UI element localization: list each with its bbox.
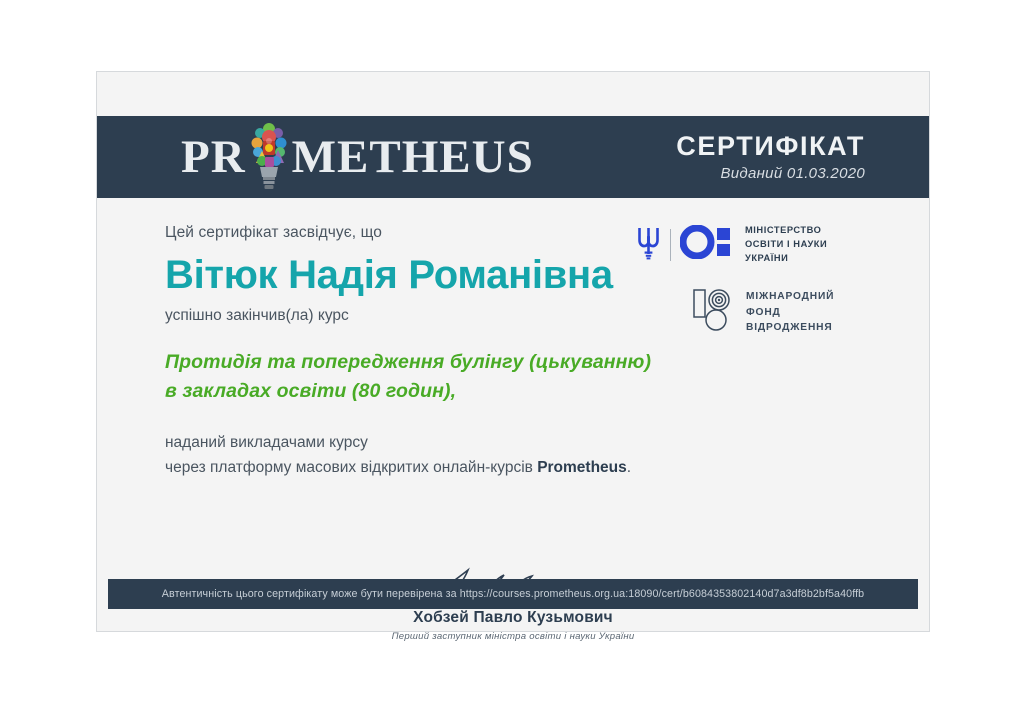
partner-logos: МІНІСТЕРСТВО ОСВІТИ І НАУКИ УКРАЇНИ [636,224,881,337]
granted-line-1: наданий викладачами курсу [165,430,705,455]
ministry-text-line-3: УКРАЇНИ [745,252,827,266]
renaissance-foundation-icon [692,288,736,337]
renaissance-foundation-logo: МІЖНАРОДНИЙ ФОНД ВІДРОДЖЕННЯ [692,288,881,337]
foundation-text-line-1: МІЖНАРОДНИЙ [746,289,834,305]
certificate-header-right: СЕРТИФІКАТ Виданий 01.03.2020 [676,132,865,183]
foundation-text-line-3: ВІДРОДЖЕННЯ [746,320,834,336]
signatory-name: Хобзей Павло Кузьмович [97,609,929,627]
granted-line-2: через платформу масових відкритих онлайн… [165,455,705,480]
brand-prefix: PR [181,134,246,181]
ministry-of-education-logo: МІНІСТЕРСТВО ОСВІТИ І НАУКИ УКРАЇНИ [636,224,881,266]
certificate-body: Цей сертифікат засвідчує, що Вітюк Надія… [97,198,929,631]
certificate-card: PR [96,71,930,632]
student-name: Вітюк Надія Романівна [165,254,705,296]
signatory-title: Перший заступник міністра освіти і науки… [97,631,929,642]
certificate-statement: Цей сертифікат засвідчує, що Вітюк Надія… [165,224,705,480]
ukraine-trident-icon [636,225,661,265]
ministry-text-line-1: МІНІСТЕРСТВО [745,224,827,238]
lightbulb-icon [247,119,291,195]
certificate-header: PR [97,116,929,198]
foundation-logo-text: МІЖНАРОДНИЙ ФОНД ВІДРОДЖЕННЯ [746,289,834,336]
prometheus-logo: PR [181,116,534,198]
ministry-text-line-2: ОСВІТИ І НАУКИ [745,238,827,252]
logo-divider [670,229,671,261]
brand-suffix: METHEUS [292,134,534,181]
course-title-line-1: Протидія та попередження булінгу (цькува… [165,348,705,377]
completion-line: успішно закінчив(ла) курс [165,307,705,325]
course-title: Протидія та попередження булінгу (цькува… [165,348,705,406]
certificate-issue-date: Виданий 01.03.2020 [676,165,865,182]
brand-wordmark: PR [181,119,534,195]
foundation-text-line-2: ФОНД [746,305,834,321]
certificate-title: СЕРТИФІКАТ [676,132,865,162]
granted-line-2-prefix: через платформу масових відкритих онлайн… [165,459,537,476]
ministry-logo-text: МІНІСТЕРСТВО ОСВІТИ І НАУКИ УКРАЇНИ [745,224,827,266]
intro-line: Цей сертифікат засвідчує, що [165,224,705,242]
granted-by-text: наданий викладачами курсу через платформ… [165,430,705,480]
verification-text: Автентичність цього сертифікату може бут… [162,588,864,600]
course-title-line-2: в закладах освіти (80 годин), [165,377,705,406]
platform-brand-name: Prometheus [537,459,627,476]
certificate-footer: Автентичність цього сертифікату може бут… [108,579,918,609]
granted-line-2-suffix: . [627,459,631,476]
mon-emblem-icon [680,225,736,264]
